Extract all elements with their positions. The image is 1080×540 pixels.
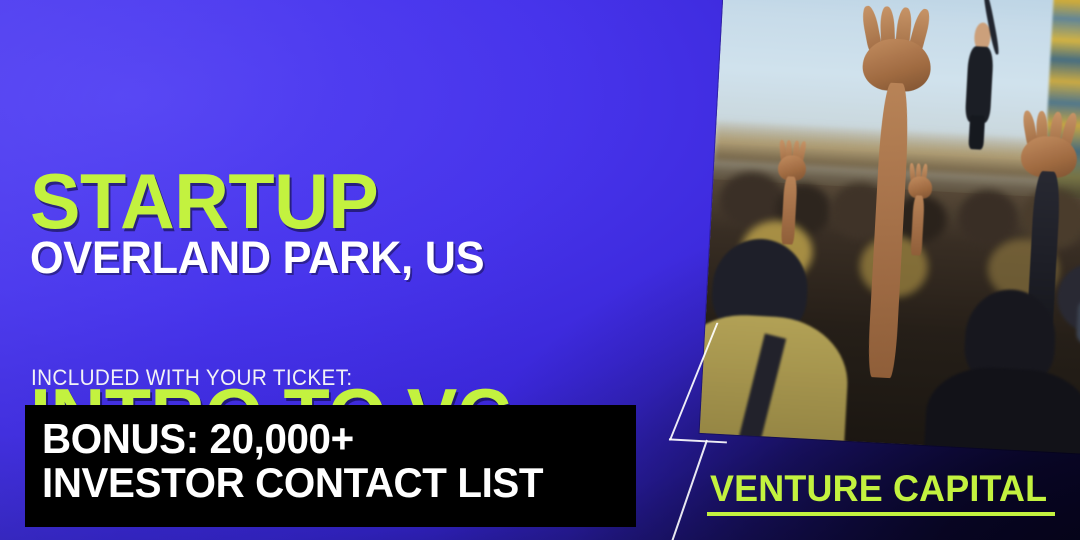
photo-speaker: [955, 19, 1005, 143]
corner-bracket-decoration: [669, 321, 733, 444]
photo-raised-hand: [776, 155, 806, 199]
category-tag: VENTURE CAPITAL: [710, 468, 1047, 510]
photo-foreground-hand: [860, 37, 932, 130]
photo-foreground-hand: [1019, 135, 1078, 208]
event-banner: STARTUP INTRO TO VC OVERLAND PARK, US IN…: [0, 0, 1080, 540]
event-location: OVERLAND PARK, US: [30, 232, 484, 284]
headline-line-1: STARTUP: [30, 166, 511, 238]
bonus-line-2: INVESTOR CONTACT LIST: [42, 461, 612, 505]
included-label: INCLUDED WITH YOUR TICKET:: [31, 365, 353, 391]
bonus-line-1: BONUS: 20,000+: [42, 417, 612, 461]
event-photo-image: [700, 0, 1080, 454]
bonus-callout-box: BONUS: 20,000+ INVESTOR CONTACT LIST: [25, 405, 636, 527]
category-tag-underline: [707, 512, 1055, 516]
event-photo: [700, 0, 1080, 454]
photo-raised-hand: [907, 176, 933, 215]
